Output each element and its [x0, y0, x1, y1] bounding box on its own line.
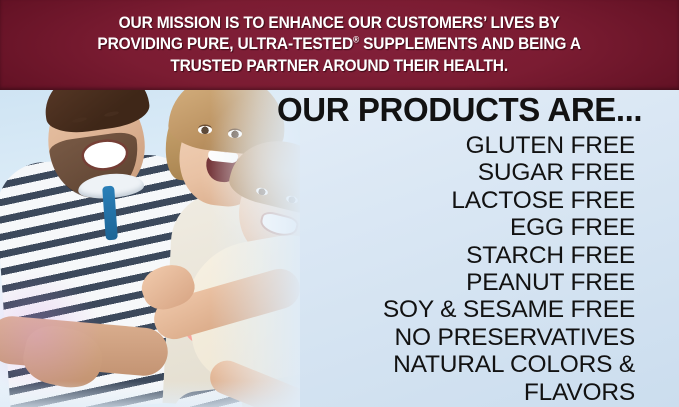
mission-line-2-part-b: SUPPLEMENTS AND BEING A — [359, 35, 581, 53]
mission-statement-text: OUR MISSION IS TO ENHANCE OUR CUSTOMERS’… — [88, 13, 590, 78]
list-item: LACTOSE FREE — [279, 187, 635, 214]
mission-statement-banner: OUR MISSION IS TO ENHANCE OUR CUSTOMERS’… — [0, 0, 679, 90]
list-item: GLUTEN FREE — [279, 132, 635, 159]
list-item: PEANUT FREE — [279, 269, 635, 296]
list-item: SUGAR FREE — [279, 159, 635, 186]
list-item: FLAVORS — [279, 379, 635, 406]
mission-line-1: OUR MISSION IS TO ENHANCE OUR CUSTOMERS’… — [119, 14, 560, 32]
mission-line-3: TRUSTED PARTNER AROUND THEIR HEALTH. — [171, 57, 509, 75]
products-heading: OUR PRODUCTS ARE... — [277, 92, 635, 128]
mission-line-2-part-a: PROVIDING PURE, ULTRA-TESTED — [98, 35, 354, 53]
photo-bottom-edge-fade — [0, 381, 300, 407]
product-claims-section: OUR PRODUCTS ARE... GLUTEN FREE SUGAR FR… — [279, 92, 635, 406]
list-item: NO PRESERVATIVES — [279, 324, 635, 351]
list-item: SOY & SESAME FREE — [279, 296, 635, 323]
list-item: STARCH FREE — [279, 242, 635, 269]
list-item: NATURAL COLORS & — [279, 351, 635, 378]
product-claims-banner: OUR MISSION IS TO ENHANCE OUR CUSTOMERS’… — [0, 0, 679, 407]
list-item: EGG FREE — [279, 214, 635, 241]
family-photo — [0, 90, 300, 407]
product-claims-list: GLUTEN FREE SUGAR FREE LACTOSE FREE EGG … — [279, 132, 635, 406]
